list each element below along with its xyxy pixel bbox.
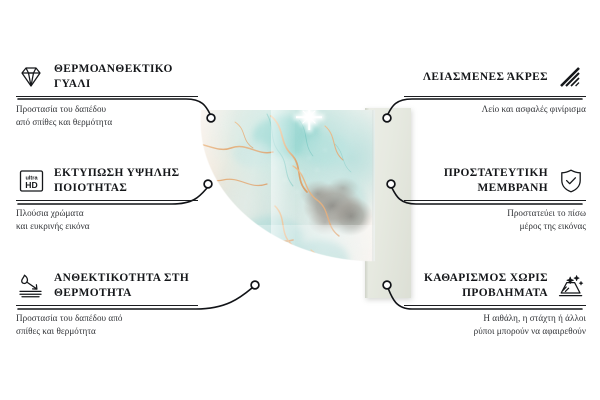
feature-print-quality-title: ΕΚΤΥΠΩΣΗ ΥΨΗΛΗΣ ΠΟΙΟΤΗΤΑΣ bbox=[54, 166, 198, 195]
sponge-sparkle-icon bbox=[556, 272, 586, 300]
glass-glint-icon bbox=[296, 104, 322, 130]
feature-membrane-desc: Προστατεύει το πίσω μέρος της εικόνας bbox=[404, 207, 586, 233]
feature-heat-resist-desc: Προστασία του δαπέδου από σπίθες και θερ… bbox=[16, 312, 198, 338]
feature-print-quality-rule bbox=[16, 200, 198, 201]
feature-heat-resist-rule bbox=[16, 305, 198, 306]
feature-membrane-head: ΠΡΟΣΤΑΤΕΥΤΙΚΗ ΜΕΜΒΡΑΝΗ bbox=[404, 166, 586, 196]
feature-print-quality-head: ultra HD ΕΚΤΥΠΩΣΗ ΥΨΗΛΗΣ ΠΟΙΟΤΗΤΑΣ bbox=[16, 166, 198, 196]
desc-line-2: μέρος της εικόνας bbox=[404, 220, 586, 233]
desc-line-1: Λείο και ασφαλές φινίρισμα bbox=[404, 103, 586, 116]
glass-panel bbox=[175, 110, 375, 296]
feature-membrane-title: ΠΡΟΣΤΑΤΕΥΤΙΚΗ ΜΕΜΒΡΑΝΗ bbox=[404, 166, 548, 195]
feature-smooth-edges-desc: Λείο και ασφαλές φινίρισμα bbox=[404, 103, 586, 116]
feature-heat-resist: ΑΝΘΕΚΤΙΚΟΤΗΤΑ ΣΤΗ ΘΕΡΜΟΤΗΤΑ Προστασία το… bbox=[16, 271, 198, 338]
feature-heat-resist-title: ΑΝΘΕΚΤΙΚΟΤΗΤΑ ΣΤΗ ΘΕΡΜΟΤΗΤΑ bbox=[54, 271, 198, 300]
glass-reflection-lower bbox=[175, 225, 375, 296]
feature-heat-resist-head: ΑΝΘΕΚΤΙΚΟΤΗΤΑ ΣΤΗ ΘΕΡΜΟΤΗΤΑ bbox=[16, 271, 198, 301]
flame-deflect-icon bbox=[16, 272, 46, 300]
glass-right-edge bbox=[372, 110, 375, 296]
svg-text:HD: HD bbox=[25, 180, 37, 190]
feature-easy-clean: ΚΑΘΑΡΙΣΜΟΣ ΧΩΡΙΣ ΠΡΟΒΛΗΜΑΤΑ Η αιθάλη, η … bbox=[404, 271, 586, 338]
feature-easy-clean-rule bbox=[404, 305, 586, 306]
feature-smooth-edges-title: ΛΕΙΑΣΜΕΝΕΣ ΆΚΡΕΣ bbox=[404, 70, 548, 85]
shield-check-icon bbox=[556, 167, 586, 195]
desc-line-1: Η αιθάλη, η στάχτη ή άλλοι bbox=[404, 312, 586, 325]
infographic-canvas: ΘΕΡΜΟΑΝΘΕΚΤΙΚΟ ΓΥΑΛΙ Προστασία του δαπέδ… bbox=[0, 0, 600, 400]
desc-line-2: ρύποι μπορούν να αφαιρεθούν bbox=[404, 325, 586, 338]
desc-line-2: από σπίθες και θερμότητα bbox=[16, 116, 198, 129]
feature-heat-glass: ΘΕΡΜΟΑΝΘΕΚΤΙΚΟ ΓΥΑΛΙ Προστασία του δαπέδ… bbox=[16, 62, 198, 129]
product-image bbox=[170, 100, 410, 315]
feature-easy-clean-desc: Η αιθάλη, η στάχτη ή άλλοι ρύποι μπορούν… bbox=[404, 312, 586, 338]
desc-line-1: Προστασία του δαπέδου από bbox=[16, 312, 198, 325]
desc-line-1: Προστατεύει το πίσω bbox=[404, 207, 586, 220]
feature-heat-glass-title: ΘΕΡΜΟΑΝΘΕΚΤΙΚΟ ΓΥΑΛΙ bbox=[54, 62, 198, 91]
feature-heat-glass-rule bbox=[16, 96, 198, 97]
diamond-icon bbox=[16, 63, 46, 91]
ultra-hd-icon: ultra HD bbox=[16, 167, 46, 195]
feature-heat-glass-desc: Προστασία του δαπέδου από σπίθες και θερ… bbox=[16, 103, 198, 129]
desc-line-1: Πλούσια χρώματα bbox=[16, 207, 198, 220]
feature-smooth-edges-head: ΛΕΙΑΣΜΕΝΕΣ ΆΚΡΕΣ bbox=[404, 62, 586, 92]
feature-print-quality-desc: Πλούσια χρώματα και ευκρινής εικόνα bbox=[16, 207, 198, 233]
feature-smooth-edges-rule bbox=[404, 96, 586, 97]
feature-smooth-edges: ΛΕΙΑΣΜΕΝΕΣ ΆΚΡΕΣ Λείο και ασφαλές φινίρι… bbox=[404, 62, 586, 116]
desc-line-1: Προστασία του δαπέδου bbox=[16, 103, 198, 116]
desc-line-2: και ευκρινής εικόνα bbox=[16, 220, 198, 233]
feature-heat-glass-head: ΘΕΡΜΟΑΝΘΕΚΤΙΚΟ ΓΥΑΛΙ bbox=[16, 62, 198, 92]
bevel-hatch-icon bbox=[556, 63, 586, 91]
feature-easy-clean-title: ΚΑΘΑΡΙΣΜΟΣ ΧΩΡΙΣ ΠΡΟΒΛΗΜΑΤΑ bbox=[404, 271, 548, 300]
feature-membrane-rule bbox=[404, 200, 586, 201]
desc-line-2: σπίθες και θερμότητα bbox=[16, 325, 198, 338]
feature-membrane: ΠΡΟΣΤΑΤΕΥΤΙΚΗ ΜΕΜΒΡΑΝΗ Προστατεύει το πί… bbox=[404, 166, 586, 233]
feature-easy-clean-head: ΚΑΘΑΡΙΣΜΟΣ ΧΩΡΙΣ ΠΡΟΒΛΗΜΑΤΑ bbox=[404, 271, 586, 301]
feature-print-quality: ultra HD ΕΚΤΥΠΩΣΗ ΥΨΗΛΗΣ ΠΟΙΟΤΗΤΑΣ Πλούσ… bbox=[16, 166, 198, 233]
